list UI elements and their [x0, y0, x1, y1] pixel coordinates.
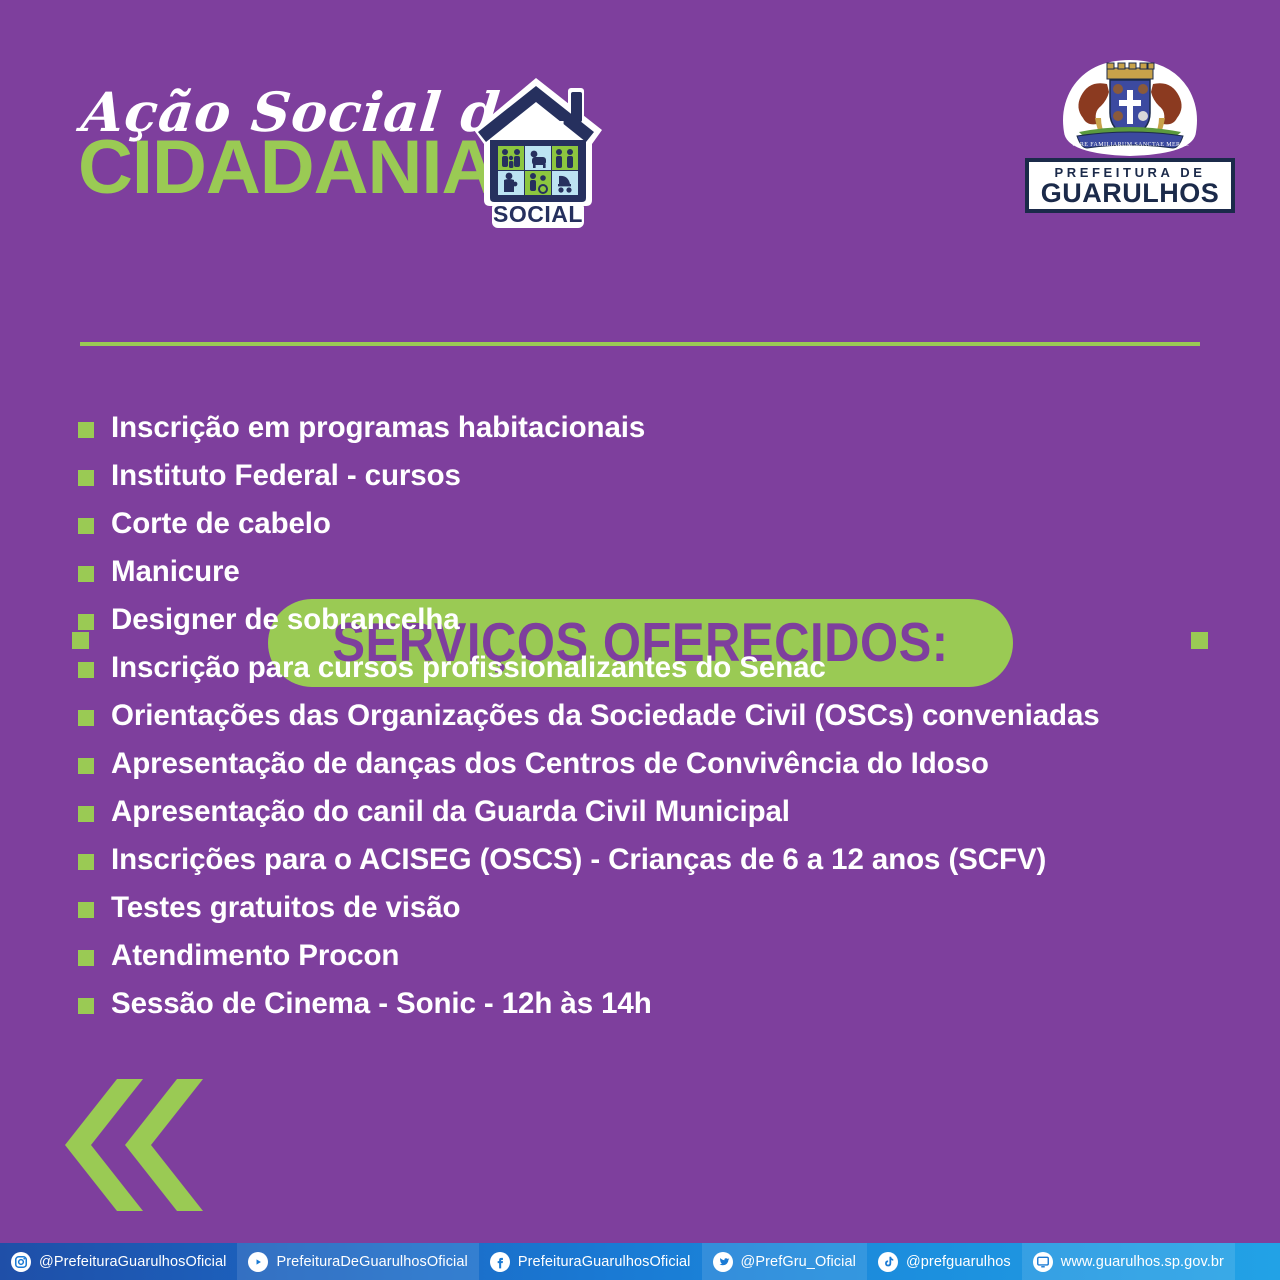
bullet-square-icon	[78, 566, 94, 582]
bullet-square-icon	[78, 758, 94, 774]
footer-item-facebook[interactable]: PrefeituraGuarulhosOficial	[479, 1243, 702, 1280]
bullet-square-icon	[78, 614, 94, 630]
list-item-label: Atendimento Procon	[111, 941, 399, 971]
list-item-label: Apresentação de danças dos Centros de Co…	[111, 749, 989, 779]
list-item: Designer de sobrancelha	[78, 596, 1228, 644]
list-item: Inscrição para cursos profissionalizante…	[78, 644, 1228, 692]
list-item-label: Corte de cabelo	[111, 509, 331, 539]
svg-text:SOCIAL: SOCIAL	[493, 201, 583, 227]
website-icon	[1033, 1252, 1053, 1272]
list-item: Testes gratuitos de visão	[78, 884, 1228, 932]
footer-item-label: @PrefeituraGuarulhosOficial	[39, 1254, 226, 1270]
twitter-icon	[713, 1252, 733, 1272]
tiktok-icon	[878, 1252, 898, 1272]
list-item-label: Manicure	[111, 557, 240, 587]
list-item: Apresentação de danças dos Centros de Co…	[78, 740, 1228, 788]
list-item-label: Inscrição para cursos profissionalizante…	[111, 653, 826, 683]
section-title-banner: SERVIÇOS OFERECIDOS:	[0, 300, 1280, 388]
bullet-square-icon	[78, 998, 94, 1014]
prefeitura-bottom-text: GUARULHOS	[1041, 180, 1220, 207]
bullet-square-icon	[78, 950, 94, 966]
facebook-icon	[490, 1252, 510, 1272]
banner-rule	[80, 342, 1200, 346]
brand-main-line: CIDADANIA	[78, 130, 495, 206]
list-item-label: Testes gratuitos de visão	[111, 893, 460, 923]
bullet-square-icon	[78, 470, 94, 486]
bullet-square-icon	[78, 854, 94, 870]
footer-item-tiktok[interactable]: @prefguarulhos	[867, 1243, 1022, 1280]
list-item: Manicure	[78, 548, 1228, 596]
bullet-square-icon	[78, 518, 94, 534]
svg-text:GRU: GRU	[506, 115, 565, 145]
gru-social-house-logo: GRU	[468, 72, 608, 232]
list-item-label: Apresentação do canil da Guarda Civil Mu…	[111, 797, 790, 827]
prefeitura-guarulhos-logo: VERE FAMILIARUM SANCTAE MERCE PREFEITURA…	[1025, 58, 1235, 213]
list-item: Inscrições para o ACISEG (OSCS) - Crianç…	[78, 836, 1228, 884]
list-item-label: Orientações das Organizações da Sociedad…	[111, 701, 1100, 731]
list-item: Inscrição em programas habitacionais	[78, 404, 1228, 452]
instagram-icon	[11, 1252, 31, 1272]
bullet-square-icon	[78, 422, 94, 438]
footer-item-website[interactable]: www.guarulhos.sp.gov.br	[1022, 1243, 1235, 1280]
footer-item-label: www.guarulhos.sp.gov.br	[1061, 1254, 1224, 1270]
list-item-label: Instituto Federal - cursos	[111, 461, 461, 491]
guarulhos-coat-of-arms-icon: VERE FAMILIARUM SANCTAE MERCE	[1055, 58, 1205, 158]
svg-text:VERE FAMILIARUM SANCTAE MERCE: VERE FAMILIARUM SANCTAE MERCE	[1071, 142, 1189, 148]
youtube-icon	[248, 1252, 268, 1272]
footer-item-instagram[interactable]: @PrefeituraGuarulhosOficial	[0, 1243, 237, 1280]
list-item: Orientações das Organizações da Sociedad…	[78, 692, 1228, 740]
list-item: Sessão de Cinema - Sonic - 12h às 14h	[78, 980, 1228, 1028]
services-list: Inscrição em programas habitacionais Ins…	[78, 404, 1228, 1028]
list-item: Atendimento Procon	[78, 932, 1228, 980]
list-item-label: Sessão de Cinema - Sonic - 12h às 14h	[111, 989, 652, 1019]
list-item: Apresentação do canil da Guarda Civil Mu…	[78, 788, 1228, 836]
prefeitura-nameplate: PREFEITURA DE GUARULHOS	[1025, 158, 1235, 213]
footer-item-twitter[interactable]: @PrefGru_Oficial	[702, 1243, 867, 1280]
list-item: Corte de cabelo	[78, 500, 1228, 548]
header: Ação Social de CIDADANIA GRU	[0, 0, 1280, 250]
list-item-label: Inscrição em programas habitacionais	[111, 413, 645, 443]
bullet-square-icon	[78, 806, 94, 822]
footer-item-youtube[interactable]: PrefeituraDeGuarulhosOficial	[237, 1243, 478, 1280]
footer-item-label: PrefeituraGuarulhosOficial	[518, 1254, 691, 1270]
footer-item-label: @prefguarulhos	[906, 1254, 1011, 1270]
prefeitura-top-text: PREFEITURA DE	[1054, 166, 1205, 179]
footer-item-label: @PrefGru_Oficial	[741, 1254, 856, 1270]
footer-item-label: PrefeituraDeGuarulhosOficial	[276, 1254, 467, 1270]
social-footer-bar: @PrefeituraGuarulhosOficial PrefeituraDe…	[0, 1243, 1280, 1280]
bullet-square-icon	[78, 710, 94, 726]
list-item: Instituto Federal - cursos	[78, 452, 1228, 500]
double-chevron-left-icon	[55, 1075, 255, 1215]
list-item-label: Designer de sobrancelha	[111, 605, 460, 635]
bullet-square-icon	[78, 902, 94, 918]
list-item-label: Inscrições para o ACISEG (OSCS) - Crianç…	[111, 845, 1046, 875]
bullet-square-icon	[78, 662, 94, 678]
